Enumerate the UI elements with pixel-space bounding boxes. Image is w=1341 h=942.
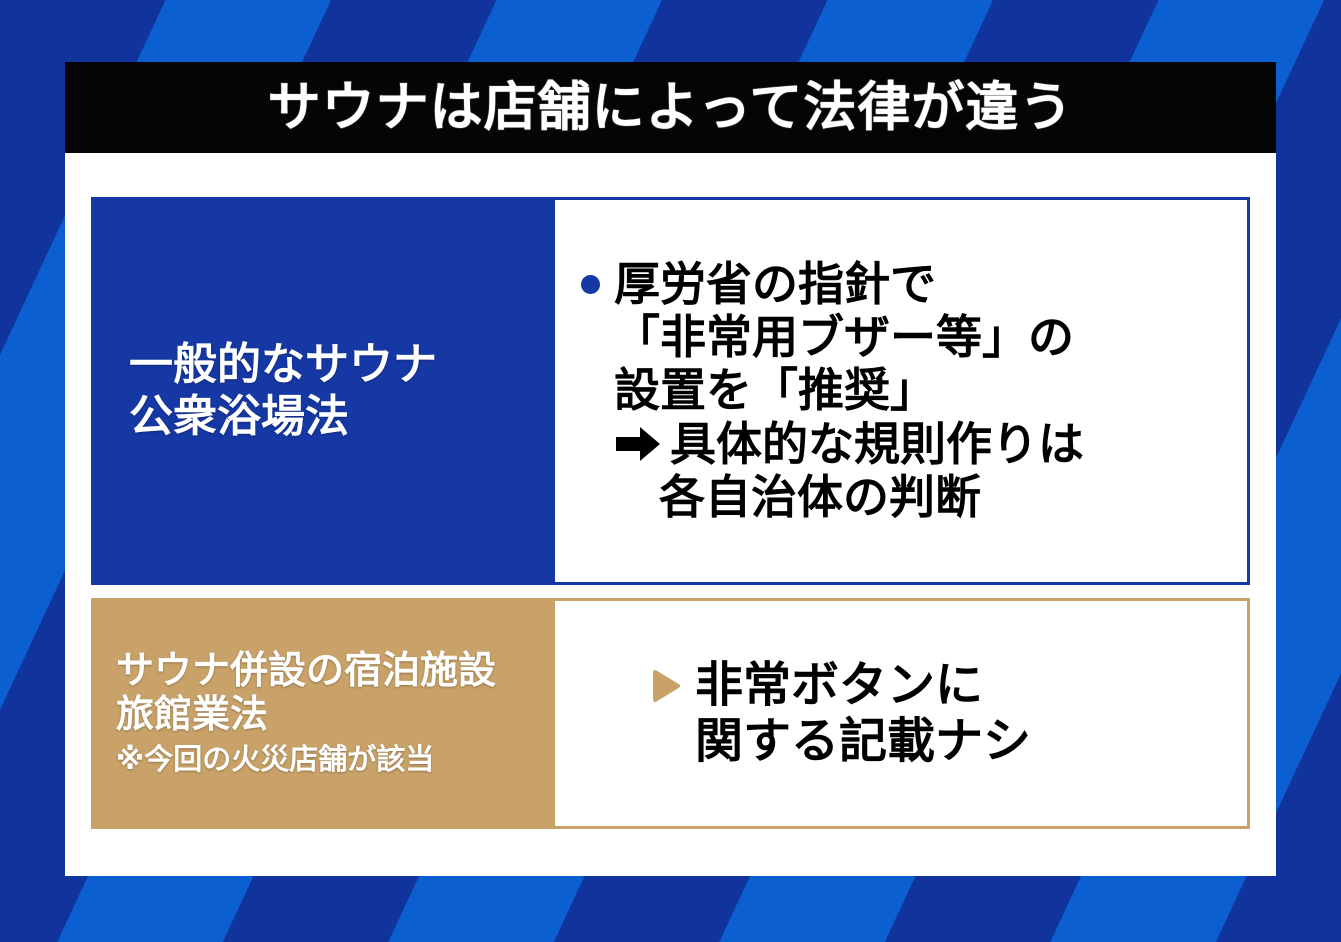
slide-background: サウナは店舗によって法律が違う 一般的なサウナ 公衆浴場法 厚労省の指針で 「非… [0,0,1341,942]
row-lodging-label-panel: サウナ併設の宿泊施設 旅館業法 ※今回の火災店舗が該当 [91,598,552,829]
row-lodging-body-text-2: 関する記載ナシ [695,714,1031,770]
row-lodging-label-line-2: 旅館業法 [116,693,552,738]
row-general-label-line-2: 公衆浴場法 [129,391,552,443]
row-general-label-panel: 一般的なサウナ 公衆浴場法 [91,197,552,585]
row-general-body-text-3: 設置を「推奨」 [614,364,936,417]
info-card: サウナは店舗によって法律が違う 一般的なサウナ 公衆浴場法 厚労省の指針で 「非… [65,62,1276,876]
row-general-body-text-2: 「非常用ブザー等」の [614,311,1074,364]
row-general-body-line-4: 具体的な規則作りは [581,418,1247,471]
row-lodging-body-panel: 非常ボタンに 関する記載ナシ [552,598,1250,829]
row-lodging-label-line-1: サウナ併設の宿泊施設 [116,649,552,694]
row-general-body-line-1: 厚労省の指針で [581,258,1247,311]
row-general-body-panel: 厚労省の指針で 「非常用ブザー等」の 設置を「推奨」 [552,197,1250,585]
page-title: サウナは店舗によって法律が違う [268,81,1074,134]
row-lodging-body-line-2: 関する記載ナシ [651,714,1247,770]
blue-dot-bullet-icon [581,275,600,294]
row-general-sauna: 一般的なサウナ 公衆浴場法 厚労省の指針で 「非常用ブザー等」の 設置を「推奨」 [91,197,1250,585]
title-bar: サウナは店舗によって法律が違う [65,62,1276,153]
tan-triangle-bullet-icon [651,669,681,703]
row-general-body-line-2: 「非常用ブザー等」の [581,311,1247,364]
row-general-body-text-1: 厚労省の指針で [614,258,936,311]
row-general-body-line-5: 各自治体の判断 [581,471,1247,524]
row-general-label-line-1: 一般的なサウナ [129,339,552,391]
right-arrow-icon [614,424,662,464]
row-general-body-text-4: 具体的な規則作りは [670,418,1084,471]
row-lodging-label-note: ※今回の火災店舗が該当 [116,742,552,778]
row-lodging-body-text-1: 非常ボタンに [695,658,983,714]
row-lodging-body-line-1: 非常ボタンに [651,658,1247,714]
row-lodging-facility: サウナ併設の宿泊施設 旅館業法 ※今回の火災店舗が該当 非常ボタンに 関する記載… [91,598,1250,829]
row-general-body-text-5: 各自治体の判断 [614,471,981,524]
row-general-body-line-3: 設置を「推奨」 [581,364,1247,417]
